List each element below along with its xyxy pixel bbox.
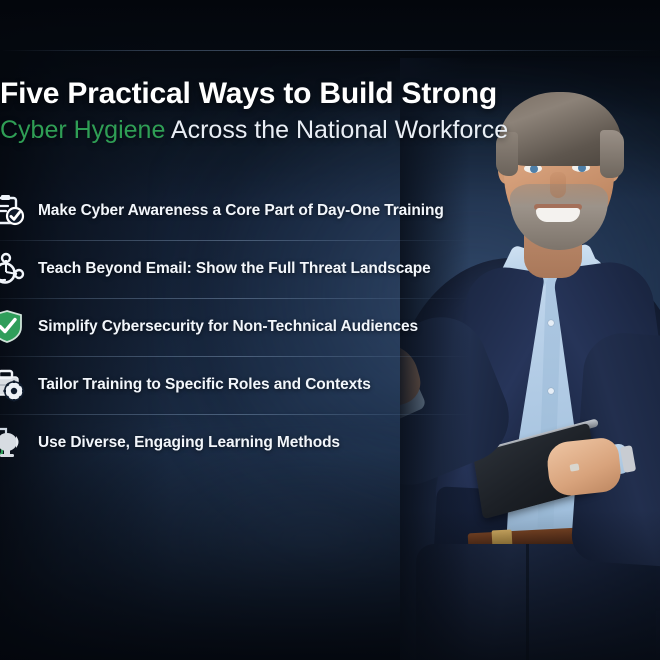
list-item-label: Simplify Cybersecurity for Non-Technical… [38,318,418,336]
shield-check-icon [0,307,30,347]
slide-canvas: Five Practical Ways to Build Strong Cybe… [0,0,660,660]
clipboard-check-icon [0,191,30,231]
hair-temple-right [600,130,624,178]
list-item[interactable]: Make Cyber Awareness a Core Part of Day-… [0,182,470,240]
list-item[interactable]: Use Diverse, Engaging Learning Methods [0,414,470,472]
presentation-projector-icon [0,423,30,463]
title-remainder-text: Across the National Workforce [165,116,508,144]
title-accent-text: Cyber Hygiene [0,116,165,144]
shirt-button [548,388,554,394]
briefcase-gear-icon [0,365,30,405]
title-line-primary: Five Practical Ways to Build Strong [0,76,520,111]
title-line-secondary: Cyber Hygiene Across the National Workfo… [0,115,520,145]
list-item[interactable]: Tailor Training to Specific Roles and Co… [0,356,470,414]
photo-fade-bottom [400,510,660,660]
list-item-label: Use Diverse, Engaging Learning Methods [38,434,340,452]
list-item[interactable]: Teach Beyond Email: Show the Full Threat… [0,240,470,298]
shirt-button [548,320,554,326]
list-item-label: Teach Beyond Email: Show the Full Threat… [38,260,431,278]
network-nodes-icon [0,249,30,289]
smile-teeth [536,208,580,222]
list-item[interactable]: Simplify Cybersecurity for Non-Technical… [0,298,470,356]
nose [550,172,566,198]
practices-list: Make Cyber Awareness a Core Part of Day-… [0,182,470,472]
iris-left [530,165,538,173]
list-item-label: Make Cyber Awareness a Core Part of Day-… [38,202,444,220]
list-item-label: Tailor Training to Specific Roles and Co… [38,376,371,394]
page-title: Five Practical Ways to Build Strong Cybe… [0,76,520,145]
hand-holding-tablet [545,436,622,497]
top-divider-rule [0,50,660,51]
